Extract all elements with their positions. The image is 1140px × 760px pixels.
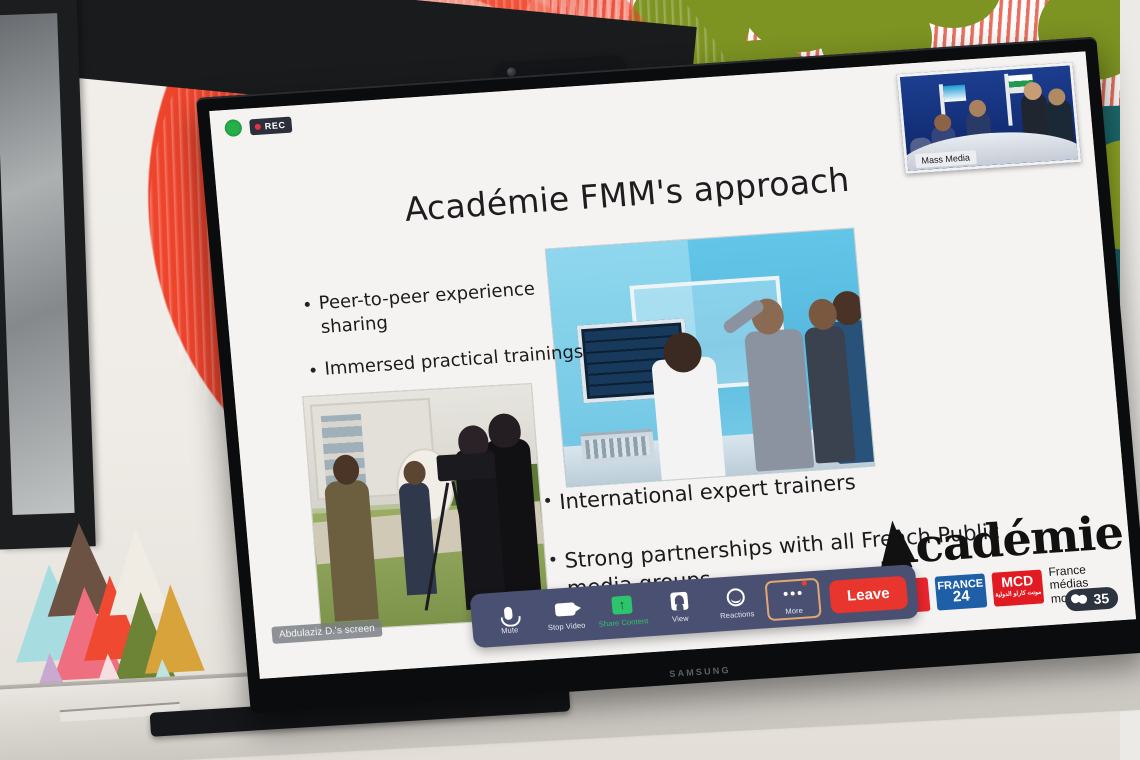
training-room-photo bbox=[545, 227, 876, 487]
bullet-dot-icon bbox=[305, 302, 310, 307]
slide-bullets-top: Peer-to-peer experience sharing Immersed… bbox=[304, 274, 593, 400]
mcd-line2: مونت كارلو الدولية bbox=[993, 587, 1044, 603]
share-content-label: Share Content bbox=[598, 616, 648, 628]
slide-title: Académie FMM's approach bbox=[403, 159, 866, 229]
camera-icon bbox=[553, 598, 577, 619]
microphone-icon bbox=[496, 602, 520, 623]
tv-bezel: Académie FMM's approach bbox=[196, 37, 1140, 714]
smiley-reaction-icon bbox=[724, 587, 748, 608]
reactions-label: Reactions bbox=[720, 609, 755, 620]
participant-video-thumbnail[interactable]: Mass Media bbox=[897, 62, 1082, 174]
mute-label: Mute bbox=[501, 625, 519, 635]
bullet-text: Immersed practical trainings bbox=[324, 340, 585, 382]
share-screen-icon bbox=[610, 594, 634, 615]
view-label: View bbox=[672, 614, 689, 624]
view-button[interactable]: View bbox=[651, 587, 708, 627]
reactions-button[interactable]: Reactions bbox=[708, 584, 765, 624]
bullet-dot-icon bbox=[310, 367, 315, 372]
bullet-dot-icon bbox=[550, 556, 555, 561]
people-icon bbox=[1071, 593, 1089, 606]
rec-badge[interactable]: REC bbox=[249, 116, 292, 135]
eiffel-tower-icon bbox=[876, 519, 912, 569]
window-glass bbox=[0, 13, 75, 515]
view-layout-icon bbox=[667, 590, 691, 611]
more-notification-dot-icon bbox=[802, 580, 807, 585]
tv-brand-logo: SAMSUNG bbox=[669, 665, 731, 679]
ellipsis-icon bbox=[781, 583, 805, 604]
france24-logo: FRANCE 24 bbox=[935, 574, 988, 611]
stop-video-button[interactable]: Stop Video bbox=[537, 595, 594, 635]
bullet-dot-icon bbox=[545, 498, 550, 503]
share-content-button[interactable]: Share Content bbox=[594, 591, 651, 631]
participants-badge[interactable]: 35 bbox=[1065, 586, 1119, 611]
participants-count: 35 bbox=[1093, 590, 1110, 607]
room-scene: Académie FMM's approach bbox=[0, 0, 1140, 760]
mute-button[interactable]: Mute bbox=[480, 599, 537, 639]
bullet-item: Immersed practical trainings bbox=[310, 340, 592, 383]
leave-button[interactable]: Leave bbox=[829, 575, 908, 613]
tv-screen: Académie FMM's approach bbox=[209, 51, 1136, 678]
more-button[interactable]: More bbox=[764, 578, 821, 622]
television: Académie FMM's approach bbox=[196, 37, 1140, 714]
recording-green-dot-icon bbox=[224, 119, 242, 137]
mcd-logo: MCD مونت كارلو الدولية bbox=[991, 570, 1044, 607]
bullet-text: Peer-to-peer experience sharing bbox=[318, 274, 588, 341]
more-label: More bbox=[785, 606, 803, 616]
stop-video-label: Stop Video bbox=[548, 621, 586, 633]
bullet-item: Peer-to-peer experience sharing bbox=[304, 274, 588, 342]
